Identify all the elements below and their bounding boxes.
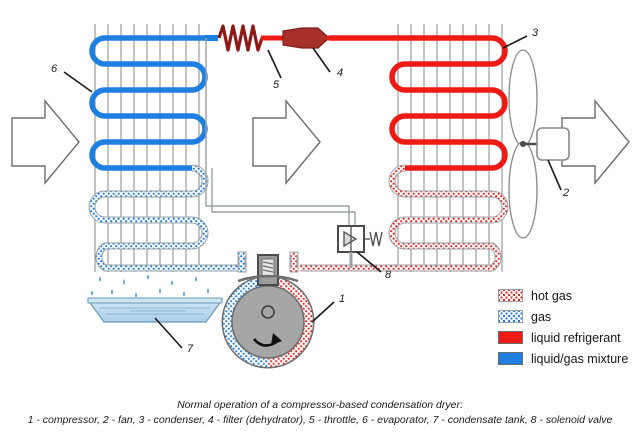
caption: Normal operation of a compressor-based c… <box>0 398 640 428</box>
leader-1 <box>312 302 334 322</box>
legend-label-gas: gas <box>531 310 551 324</box>
liquid-refrigerant-swatch-icon <box>498 331 523 344</box>
leader-6 <box>64 72 92 92</box>
throttle <box>219 26 262 50</box>
airflow-arrow-middle <box>253 101 320 183</box>
airflow-arrow-right <box>562 101 629 183</box>
condensate-drops <box>91 274 209 298</box>
callout-label-8: 8 <box>385 269 392 281</box>
legend-label-liquid-refrigerant: liquid refrigerant <box>531 331 621 345</box>
solenoid-valve <box>338 226 382 268</box>
callout-label-5: 5 <box>273 79 280 91</box>
evaporator-coil-lower-fill <box>92 168 240 268</box>
legend-label-hot-gas: hot gas <box>531 289 572 303</box>
caption-key: 1 - compressor, 2 - fan, 3 - condenser, … <box>0 413 640 428</box>
callout-label-2: 2 <box>562 187 569 199</box>
legend-item-gas: gas <box>498 307 640 326</box>
legend: hot gas gas liquid refrigerant liquid/ga… <box>498 286 640 370</box>
caption-title: Normal operation of a compressor-based c… <box>0 398 640 413</box>
callout-label-3: 3 <box>532 27 539 39</box>
leader-2 <box>548 160 561 190</box>
callout-label-1: 1 <box>339 293 345 305</box>
condenser-fins <box>398 24 502 272</box>
airflow-arrow-left <box>12 101 79 183</box>
legend-item-liquid-gas-mixture: liquid/gas mixture <box>498 349 640 368</box>
condenser-coil-lower-fill <box>300 168 505 268</box>
condenser-coil-upper <box>330 38 505 168</box>
liquid-gas-mixture-swatch-icon <box>498 352 523 365</box>
fan <box>509 50 569 238</box>
callout-label-7: 7 <box>187 343 194 355</box>
evaporator-coil-upper <box>92 38 208 168</box>
legend-label-liquid-gas-mixture: liquid/gas mixture <box>531 352 628 366</box>
legend-item-hot-gas: hot gas <box>498 286 640 305</box>
callout-label-4: 4 <box>337 67 343 79</box>
refrigeration-schematic: 6 5 4 3 2 1 7 8 <box>0 0 640 444</box>
filter-dehydrator <box>283 28 329 48</box>
hot-gas-swatch-icon <box>498 289 523 302</box>
bypass-pipe <box>206 168 355 226</box>
diagram-canvas: 6 5 4 3 2 1 7 8 hot gas gas liquid refri… <box>0 0 640 444</box>
gas-swatch-icon <box>498 310 523 323</box>
leader-5 <box>268 50 281 78</box>
legend-item-liquid-refrigerant: liquid refrigerant <box>498 328 640 347</box>
callout-label-6: 6 <box>51 63 58 75</box>
leader-3 <box>503 36 527 48</box>
evaporator-fins <box>95 24 199 272</box>
leader-4 <box>313 48 330 72</box>
